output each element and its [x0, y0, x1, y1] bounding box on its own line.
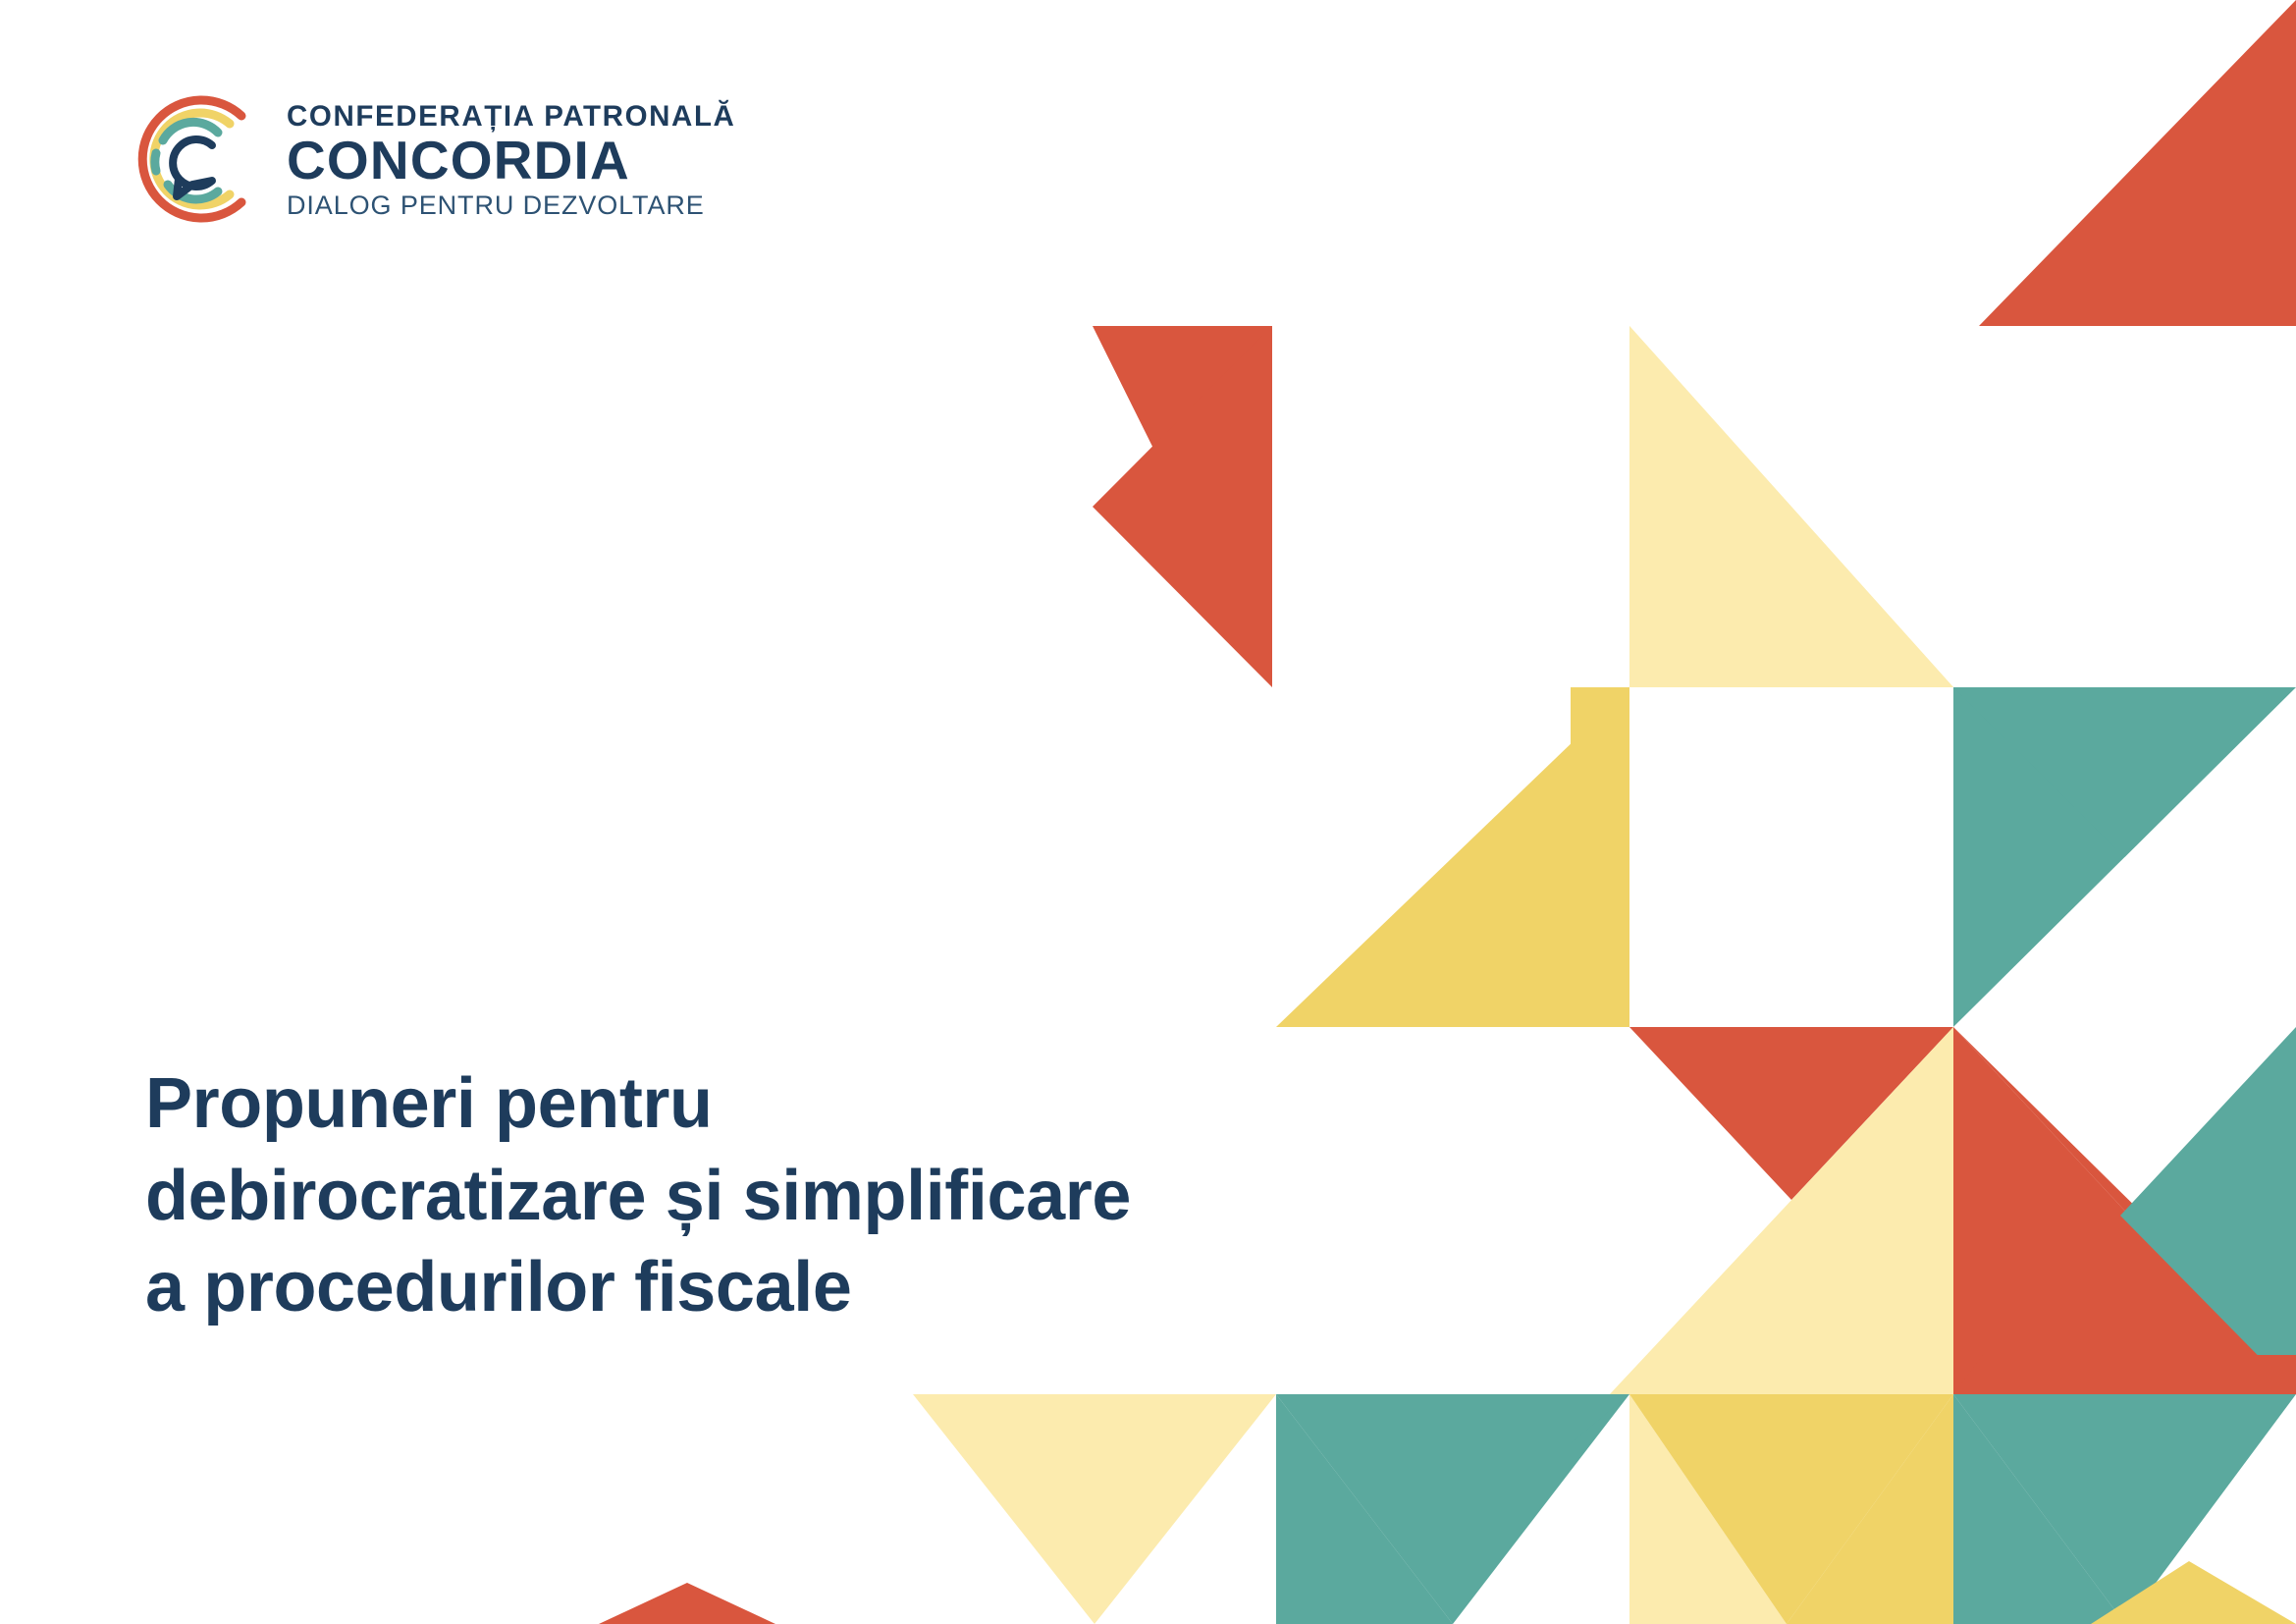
logo-wordmark: CONFEDERAȚIA PATRONALĂ CONCORDIA DIALOG … [287, 96, 735, 222]
pattern-triangle-orange [599, 1583, 775, 1624]
title-line-1: Propuneri pentru [145, 1058, 1520, 1151]
pattern-triangle-yellow-dark [1571, 687, 1629, 1027]
pattern-triangle-orange [1953, 1355, 2296, 1394]
pattern-triangle-teal [1571, 1394, 1629, 1443]
concordia-c-speech-bubble-mark-icon [116, 86, 261, 232]
slide-canvas: CONFEDERAȚIA PATRONALĂ CONCORDIA DIALOG … [0, 0, 2296, 1624]
title-line-3: a procedurilor fiscale [145, 1242, 1520, 1334]
logo: CONFEDERAȚIA PATRONALĂ CONCORDIA DIALOG … [116, 86, 735, 232]
logo-line-confederatia: CONFEDERAȚIA PATRONALĂ [287, 100, 735, 133]
pattern-square-white [1629, 687, 1953, 1027]
pattern-triangle-yellow-light [913, 1394, 1276, 1624]
pattern-triangle-orange [1979, 0, 2296, 326]
page-title: Propuneri pentru debirocratizare și simp… [145, 1058, 1520, 1334]
geometric-pattern [0, 0, 2296, 1624]
logo-tagline: DIALOG PENTRU DEZVOLTARE [287, 189, 735, 221]
title-line-2: debirocratizare și simplificare [145, 1151, 1520, 1243]
logo-line-concordia: CONCORDIA [287, 133, 735, 188]
pattern-triangle-yellow-light [1629, 326, 1953, 687]
